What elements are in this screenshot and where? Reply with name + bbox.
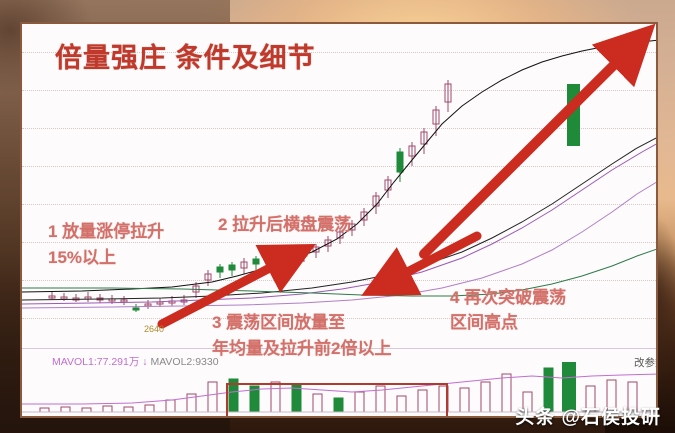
mavol1-arrow-icon: ↓ (142, 356, 147, 368)
annotation-4: 4 再次突破震荡 区间高点 (450, 285, 566, 335)
annotation-4-line1: 4 再次突破震荡 (450, 285, 566, 310)
annotation-1-line1: 1 放量涨停拉升 (48, 219, 164, 245)
watermark: 头条 @石侯投研 (515, 402, 661, 429)
annotation-1-line2: 15%以上 (48, 245, 164, 271)
mavol1-value: MAVOL1:77.291万 (52, 356, 139, 368)
arrow-breakout (424, 49, 630, 254)
annotation-3-line2: 年均量及拉升前2倍以上 (212, 336, 391, 362)
price-tag-label: 2640 (144, 324, 164, 334)
page-title: 倍量强庄 条件及细节 (55, 36, 316, 75)
annotation-4-line2: 区间高点 (450, 310, 566, 335)
annotation-2-line1: 2 拉升后横盘震荡 (218, 210, 351, 235)
annotation-1: 1 放量涨停拉升 15%以上 (48, 219, 164, 271)
change-parameters-button[interactable]: 改参数 (634, 355, 658, 370)
mavol2-value: MAVOL2:9330 (150, 356, 218, 368)
volume-selection-box[interactable] (226, 383, 448, 418)
annotation-3: 3 震荡区间放量至 年均量及拉升前2倍以上 (212, 310, 391, 362)
annotation-3-line1: 3 震荡区间放量至 (212, 310, 391, 336)
annotation-2: 2 拉升后横盘震荡 (218, 210, 351, 235)
volume-indicator-readout: MAVOL1:77.291万 ↓ MAVOL2:9330 (52, 354, 219, 369)
